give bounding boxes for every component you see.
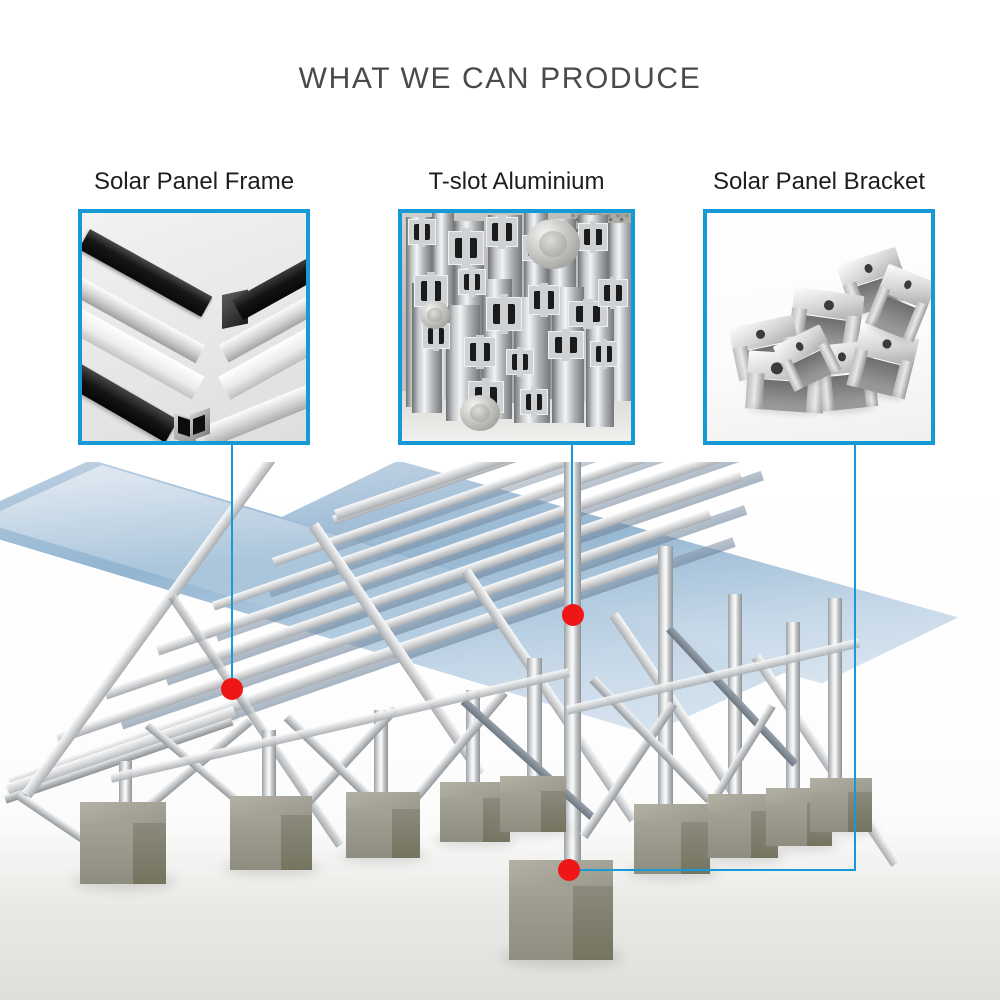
t-slot-face [548, 331, 584, 359]
footing-side [681, 822, 710, 874]
card-image-frame-solar-panel-bracket[interactable] [703, 209, 935, 445]
t-slot-face [590, 341, 618, 367]
concrete-footing [634, 804, 710, 874]
support-post [828, 598, 842, 794]
footing-front [440, 798, 483, 842]
t-slot-face [408, 219, 436, 245]
t-slot-face [598, 279, 628, 307]
t-slot-face [506, 349, 534, 375]
card-t-slot-aluminium[interactable]: T-slot Aluminium [398, 168, 635, 445]
t-slot-face [486, 217, 518, 247]
footing-side [281, 815, 312, 870]
connector-line-solar-panel-frame [231, 445, 233, 689]
card-solar-panel-bracket[interactable]: Solar Panel Bracket [703, 168, 935, 445]
card-label-solar-panel-frame: Solar Panel Frame [78, 168, 310, 196]
concrete-footing [500, 776, 566, 832]
concrete-footing [810, 778, 872, 832]
t-slot-face [486, 297, 522, 331]
footing-front [708, 811, 751, 858]
footing-front [810, 792, 848, 832]
t-slot-face [464, 337, 496, 367]
footing-front [80, 823, 133, 884]
footing-front [509, 886, 573, 960]
card-label-t-slot-aluminium: T-slot Aluminium [398, 168, 635, 196]
concrete-footing [80, 802, 166, 884]
t-slot-face [520, 389, 548, 415]
footing-front [346, 809, 392, 858]
marker-solar-panel-frame[interactable] [221, 678, 243, 700]
card-label-solar-panel-bracket: Solar Panel Bracket [703, 168, 935, 196]
photo-solar-panel-frame [82, 213, 306, 441]
footing-top [80, 802, 166, 823]
bore-hole [539, 231, 567, 257]
t-slot-face [528, 285, 560, 315]
footing-side [133, 823, 166, 884]
frame-profile-black-lower-slot [178, 416, 190, 437]
marker-solar-panel-bracket[interactable] [558, 859, 580, 881]
connector-line-t-slot-aluminium [571, 445, 573, 617]
footing-side [392, 809, 420, 858]
poster-canvas: WHAT WE CAN PRODUCE Solar Panel Frame [0, 0, 1000, 1000]
bore-hole [427, 308, 443, 323]
card-image-frame-t-slot-aluminium[interactable] [398, 209, 635, 445]
t-slot-face [448, 231, 484, 265]
bore-hole [470, 404, 491, 423]
footing-top [634, 804, 710, 822]
footing-top [500, 776, 566, 791]
page-title: WHAT WE CAN PRODUCE [0, 62, 1000, 96]
t-slot-face [578, 223, 608, 251]
footing-side [541, 791, 566, 832]
footing-front [766, 803, 807, 846]
round-extrusion-face [526, 219, 580, 269]
t-slot-face [458, 269, 486, 295]
photo-t-slot-aluminium [402, 213, 631, 441]
footing-top [230, 796, 312, 815]
card-image-frame-solar-panel-frame[interactable] [78, 209, 310, 445]
support-post [786, 622, 800, 808]
marker-t-slot-aluminium[interactable] [562, 604, 584, 626]
carport-render [0, 462, 1000, 1000]
footing-front [500, 791, 541, 832]
footing-side [848, 792, 872, 832]
connector-line-solar-panel-bracket-vertical [854, 445, 856, 871]
card-solar-panel-frame[interactable]: Solar Panel Frame [78, 168, 310, 445]
footing-top [346, 792, 420, 809]
footing-side [573, 886, 613, 960]
footing-top [810, 778, 872, 792]
round-extrusion-face [420, 301, 450, 329]
footing-front [634, 822, 681, 874]
round-extrusion-face [460, 395, 500, 431]
concrete-footing [230, 796, 312, 870]
footing-front [230, 815, 281, 870]
frame-profile-silver-lower [200, 385, 306, 441]
concrete-footing [346, 792, 420, 858]
connector-line-solar-panel-bracket-horizontal [578, 869, 856, 871]
photo-solar-panel-bracket [707, 213, 931, 441]
